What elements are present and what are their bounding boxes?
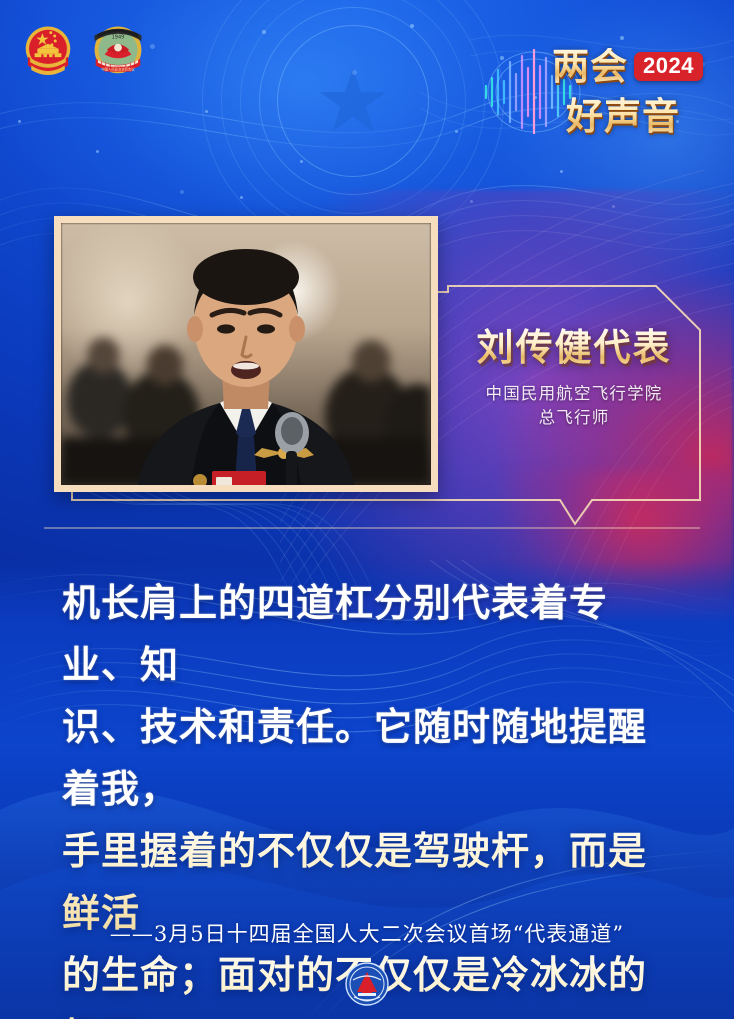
speaker-name-block: 刘传健代表 中国民用航空飞行学院 总飞行师	[438, 328, 710, 430]
speaker-photo-image	[61, 223, 431, 485]
quote-line: 识、技术和责任。它随时随地提醒着我，	[62, 696, 682, 820]
svg-text:中国人民政治协商会议: 中国人民政治协商会议	[101, 67, 135, 72]
speaker-name: 刘传健代表	[438, 328, 710, 369]
logo-line1: 两会	[552, 48, 628, 85]
poster-root: 1949 中国人民政治协商会议	[0, 0, 734, 1019]
quote-line: 机长肩上的四道杠分别代表着专业、知	[62, 572, 682, 696]
svg-text:1949: 1949	[112, 35, 125, 41]
quote-attribution: ——3月5日十四届全国人大二次会议首场“代表通道”	[0, 918, 734, 948]
quote-block: 机长肩上的四道杠分别代表着专业、知 识、技术和责任。它随时随地提醒着我， 手里握…	[62, 572, 682, 1019]
speaker-portrait-figure	[116, 237, 376, 485]
speaker-affiliation-line1: 中国民用航空飞行学院	[438, 382, 710, 406]
logo-text-lockup: 两会 2024 好声音	[552, 42, 712, 154]
logo-line2: 好声音	[566, 95, 680, 138]
two-sessions-logo: 两会 2024 好声音	[482, 42, 718, 154]
speaker-photo	[54, 216, 438, 492]
speaker-affiliation: 中国民用航空飞行学院 总飞行师	[438, 382, 710, 430]
tiananmen-roundel-logo-icon	[345, 962, 389, 1006]
national-emblem-of-china-icon	[20, 22, 76, 80]
logo-year-badge: 2024	[634, 52, 703, 81]
emblem-group: 1949 中国人民政治协商会议	[20, 22, 146, 80]
cppcc-emblem-icon: 1949 中国人民政治协商会议	[90, 22, 146, 80]
speaker-affiliation-line2: 总飞行师	[438, 406, 710, 430]
